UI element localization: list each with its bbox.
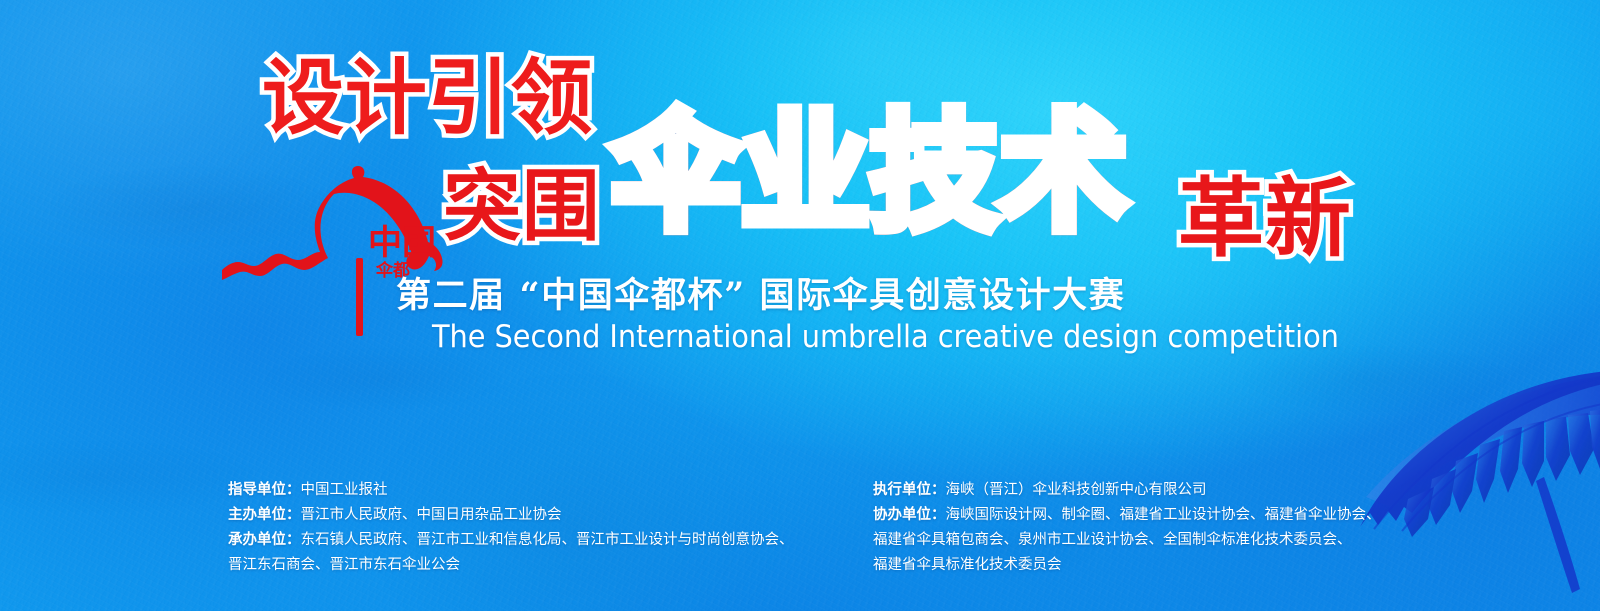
credit-value: 晋江市人民政府、中国日用杂品工业协会 bbox=[301, 507, 562, 523]
subtitle-chinese: 第二届 “中国伞都杯” 国际伞具创意设计大赛 bbox=[396, 276, 1125, 315]
credit-row: 指导单位：中国工业报社 bbox=[228, 478, 848, 503]
credit-row: 协办单位：海峡国际设计网、制伞圈、福建省工业设计协会、福建省伞业协会、 bbox=[873, 503, 1473, 528]
headline-tail: 革新 bbox=[1178, 176, 1352, 262]
credit-label: 执行单位： bbox=[873, 482, 946, 498]
headline-main-gradient: 伞业技术 bbox=[612, 110, 1129, 238]
credits-left-column: 指导单位：中国工业报社 主办单位：晋江市人民政府、中国日用杂品工业协会 承办单位… bbox=[228, 478, 848, 578]
promotional-banner: 中国 伞都 设计引领 突围 伞业技术 革新 第二届 “中国伞都杯” 国际伞具创意… bbox=[0, 0, 1600, 611]
credit-label: 承办单位： bbox=[228, 532, 301, 548]
credit-continuation: 晋江东石商会、晋江市东石伞业公会 bbox=[228, 553, 848, 578]
credit-row: 主办单位：晋江市人民政府、中国日用杂品工业协会 bbox=[228, 503, 848, 528]
credit-row: 承办单位：东石镇人民政府、晋江市工业和信息化局、晋江市工业设计与时尚创意协会、 bbox=[228, 528, 848, 553]
subtitle-english: The Second International umbrella creati… bbox=[432, 320, 1339, 354]
credit-value: 中国工业报社 bbox=[301, 482, 388, 498]
credit-value: 东石镇人民政府、晋江市工业和信息化局、晋江市工业设计与时尚创意协会、 bbox=[301, 532, 794, 548]
headline-line-1: 设计引领 bbox=[262, 58, 593, 140]
credit-label: 协办单位： bbox=[873, 507, 946, 523]
headline-line-2: 突围 bbox=[443, 168, 601, 246]
credit-label: 主办单位： bbox=[228, 507, 301, 523]
logo-main-text: 中国 bbox=[368, 223, 436, 263]
credit-continuation: 福建省伞具标准化技术委员会 bbox=[873, 553, 1473, 578]
credits-right-column: 执行单位：海峡（晋江）伞业科技创新中心有限公司 协办单位：海峡国际设计网、制伞圈… bbox=[873, 478, 1473, 578]
credit-label: 指导单位： bbox=[228, 482, 301, 498]
credit-continuation: 福建省伞具箱包商会、泉州市工业设计协会、全国制伞标准化技术委员会、 bbox=[873, 528, 1473, 553]
credit-value: 海峡国际设计网、制伞圈、福建省工业设计协会、福建省伞业协会、 bbox=[946, 507, 1381, 523]
credit-value: 海峡（晋江）伞业科技创新中心有限公司 bbox=[946, 482, 1207, 498]
credit-row: 执行单位：海峡（晋江）伞业科技创新中心有限公司 bbox=[873, 478, 1473, 503]
